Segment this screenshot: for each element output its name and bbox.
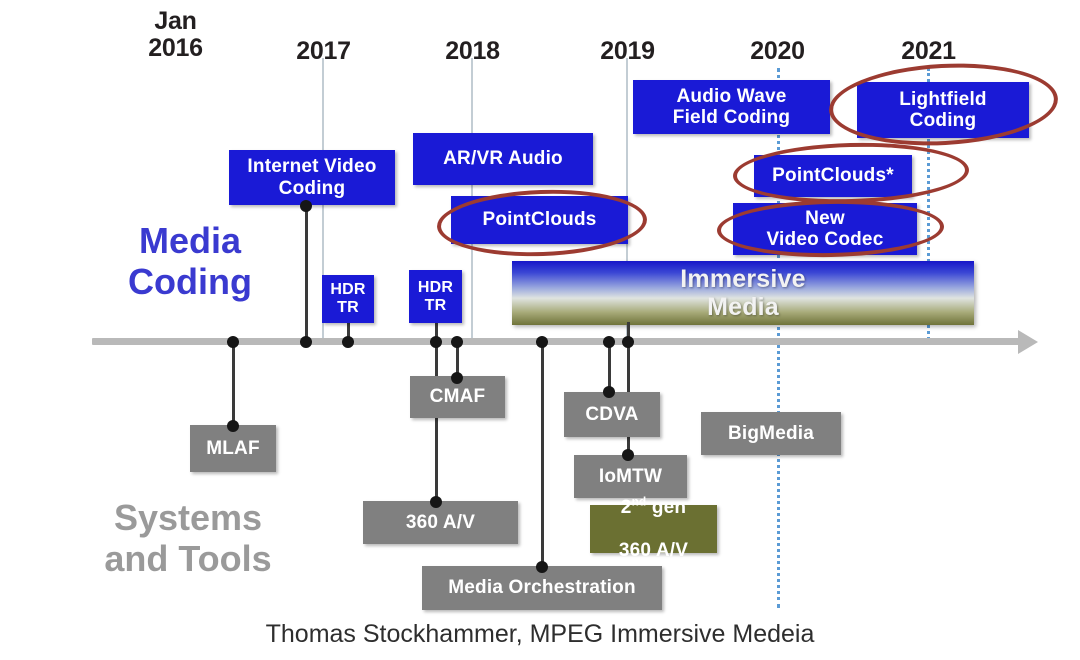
timeline-diagram: Jan 2016 2017 2018 2019 2020 2021 Media … bbox=[0, 0, 1080, 660]
dot-media-orchestration-top bbox=[536, 561, 548, 573]
axis-dot-2016 bbox=[227, 336, 239, 348]
box-audio-wave-field-coding[interactable]: Audio Wave Field Coding bbox=[633, 80, 830, 134]
box-hdr-tr-2018[interactable]: HDR TR bbox=[409, 270, 462, 323]
dot-mlaf-top bbox=[227, 420, 239, 432]
year-label-2017: 2017 bbox=[271, 38, 376, 65]
year-label-2021: 2021 bbox=[876, 38, 981, 65]
box-internet-video-coding[interactable]: Internet Video Coding bbox=[229, 150, 395, 205]
second-gen-prefix: 2 bbox=[621, 497, 632, 518]
box-mlaf[interactable]: MLAF bbox=[190, 425, 276, 472]
dot-internet-video-coding-bottom bbox=[300, 200, 312, 212]
axis-dot-iomtw bbox=[622, 336, 634, 348]
year-label-2018: 2018 bbox=[420, 38, 525, 65]
lane-title-systems-tools: Systems and Tools bbox=[72, 497, 304, 580]
box-bigmedia[interactable]: BigMedia bbox=[701, 412, 841, 455]
connector-media-orchestration bbox=[541, 344, 544, 572]
second-gen-suffix: gen bbox=[646, 497, 686, 518]
year-label-2016: Jan 2016 bbox=[123, 8, 228, 62]
axis-dot-cmaf bbox=[430, 336, 442, 348]
year-label-2020: 2020 bbox=[725, 38, 830, 65]
second-gen-ordinal: nd bbox=[632, 496, 647, 509]
box-ar-vr-audio[interactable]: AR/VR Audio bbox=[413, 133, 593, 185]
connector-internet-video-coding bbox=[305, 205, 308, 344]
axis-dot-media-orchestration bbox=[536, 336, 548, 348]
connector-mlaf bbox=[232, 344, 235, 432]
box-hdr-tr-2017[interactable]: HDR TR bbox=[322, 275, 374, 323]
lane-title-media-coding: Media Coding bbox=[90, 220, 290, 303]
year-label-2019: 2019 bbox=[575, 38, 680, 65]
dot-iomtw-top bbox=[622, 449, 634, 461]
axis-dot-cmaf2 bbox=[451, 336, 463, 348]
box-360-av[interactable]: 360 A/V bbox=[363, 501, 518, 544]
dot-360av-top bbox=[430, 496, 442, 508]
axis-dot-hdr2017 bbox=[342, 336, 354, 348]
box-second-gen-360-av[interactable]: 2nd gen 360 A/V bbox=[590, 505, 717, 553]
dot-cdva-top bbox=[603, 386, 615, 398]
axis-dot-cdva bbox=[603, 336, 615, 348]
box-cdva[interactable]: CDVA bbox=[564, 392, 660, 437]
dot-cmaf-top bbox=[451, 372, 463, 384]
immersive-media-bar: Immersive Media bbox=[512, 261, 974, 325]
axis-dot-2017 bbox=[300, 336, 312, 348]
second-gen-line2: 360 A/V bbox=[619, 540, 688, 561]
ellipse-pointclouds-2020 bbox=[732, 140, 969, 206]
timeline-axis-arrow-icon bbox=[1018, 330, 1038, 354]
diagram-caption: Thomas Stockhammer, MPEG Immersive Medei… bbox=[0, 620, 1080, 649]
